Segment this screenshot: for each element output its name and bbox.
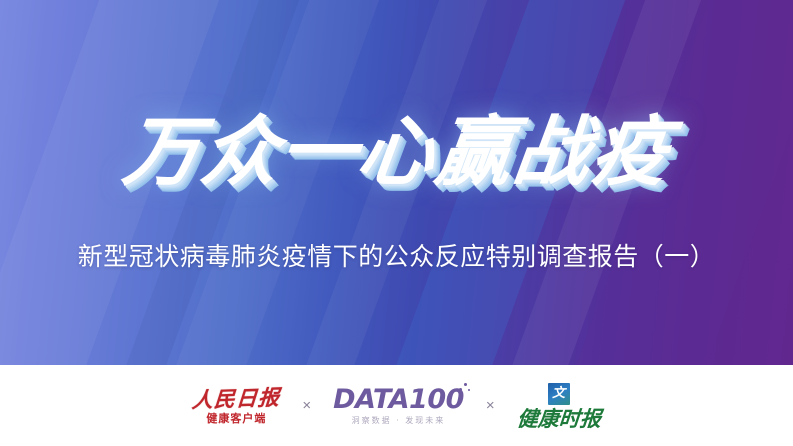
subtitle: 新型冠状病毒肺炎疫情下的公众反应特别调查报告（一） (78, 237, 716, 273)
logo-health-times-title: 健康时报 (516, 408, 602, 429)
logo-data100-wordmark: DATA100 (333, 384, 464, 415)
main-title: 万众一心赢战疫 (119, 113, 675, 191)
hero-gradient-panel: 万众一心赢战疫 新型冠状病毒肺炎疫情下的公众反应特别调查报告（一） (0, 0, 793, 365)
partner-logo-row: 人民日报 健康客户端 × DATA100 洞察数据 · 发现未来 × 文 (192, 383, 600, 429)
logo-health-times: 文 健康时报 (517, 383, 601, 429)
logo-separator-icon: × (302, 398, 311, 413)
logo-peoples-daily: 人民日报 健康客户端 (192, 388, 280, 424)
logo-peoples-daily-title: 人民日报 (191, 386, 281, 410)
logo-data100-title: DATA100 (333, 386, 464, 413)
logo-health-times-badge-char: 文 (552, 387, 565, 400)
logo-data100-tagline: 洞察数据 · 发现未来 (352, 417, 446, 425)
logo-peoples-daily-subtitle: 健康客户端 (206, 413, 266, 424)
title-container: 万众一心赢战疫 (0, 113, 793, 191)
logo-data100: DATA100 洞察数据 · 发现未来 (333, 386, 464, 425)
subtitle-container: 新型冠状病毒肺炎疫情下的公众反应特别调查报告（一） (0, 237, 793, 273)
logo-health-times-badge-icon: 文 (548, 383, 570, 405)
footer-bar: 人民日报 健康客户端 × DATA100 洞察数据 · 发现未来 × 文 (0, 365, 793, 446)
poster-root: 万众一心赢战疫 新型冠状病毒肺炎疫情下的公众反应特别调查报告（一） 人民日报 健… (0, 0, 793, 446)
logo-data100-dots-icon (459, 383, 471, 395)
logo-separator-icon: × (486, 398, 495, 413)
